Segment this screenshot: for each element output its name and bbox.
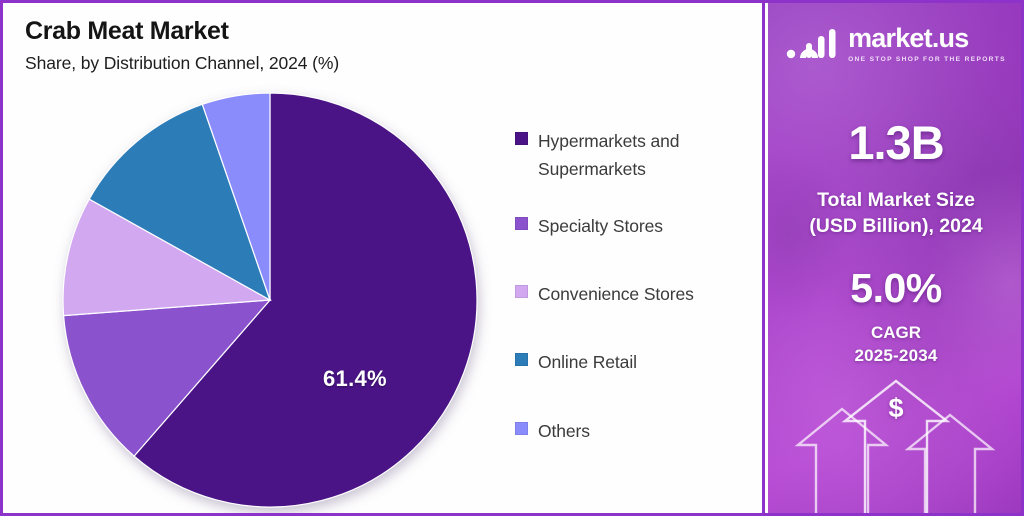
title-block: Crab Meat Market Share, by Distribution … [25, 17, 339, 74]
legend-swatch-icon [515, 217, 528, 230]
brand-logo-tagline: ONE STOP SHOP FOR THE REPORTS [848, 56, 1006, 63]
brand-stats-panel: market.us ONE STOP SHOP FOR THE REPORTS … [768, 3, 1024, 513]
cagr-value: 5.0% [768, 265, 1024, 312]
market-size-caption: Total Market Size (USD Billion), 2024 [768, 187, 1024, 240]
legend-swatch-icon [515, 422, 528, 435]
legend-label: Convenience Stores [538, 280, 694, 308]
cagr-period: 2025-2034 [768, 346, 1024, 366]
legend-label: Others [538, 417, 590, 445]
bar-chart-logo-icon [786, 27, 840, 61]
market-size-value: 1.3B [768, 115, 1024, 170]
legend-swatch-icon [515, 353, 528, 366]
legend-label: Specialty Stores [538, 212, 663, 240]
cagr-label: CAGR [768, 323, 1024, 343]
legend-label: Online Retail [538, 348, 637, 376]
brand-logo-text: market.us [848, 25, 1006, 52]
legend-swatch-icon [515, 285, 528, 298]
legend-item-hypermarkets-and-supermarkets[interactable]: Hypermarkets and Supermarkets [515, 127, 755, 184]
legend-item-online-retail[interactable]: Online Retail [515, 348, 755, 376]
upward-arrows-icon [768, 373, 1024, 513]
pie-slice-label-hypermarkets: 61.4% [323, 366, 387, 392]
legend-item-specialty-stores[interactable]: Specialty Stores [515, 212, 755, 240]
legend-swatch-icon [515, 132, 528, 145]
pie-chart: 61.4% [61, 91, 485, 511]
chart-panel: Crab Meat Market Share, by Distribution … [3, 3, 765, 513]
legend-label: Hypermarkets and Supermarkets [538, 127, 679, 184]
brand-logo: market.us ONE STOP SHOP FOR THE REPORTS [768, 25, 1024, 63]
pie-svg [61, 91, 479, 509]
page-subtitle: Share, by Distribution Channel, 2024 (%) [25, 53, 339, 74]
chart-legend: Hypermarkets and Supermarkets Specialty … [515, 127, 755, 445]
legend-item-others[interactable]: Others [515, 417, 755, 445]
page-title: Crab Meat Market [25, 17, 339, 46]
infographic-page: Crab Meat Market Share, by Distribution … [0, 0, 1024, 516]
legend-item-convenience-stores[interactable]: Convenience Stores [515, 280, 755, 308]
